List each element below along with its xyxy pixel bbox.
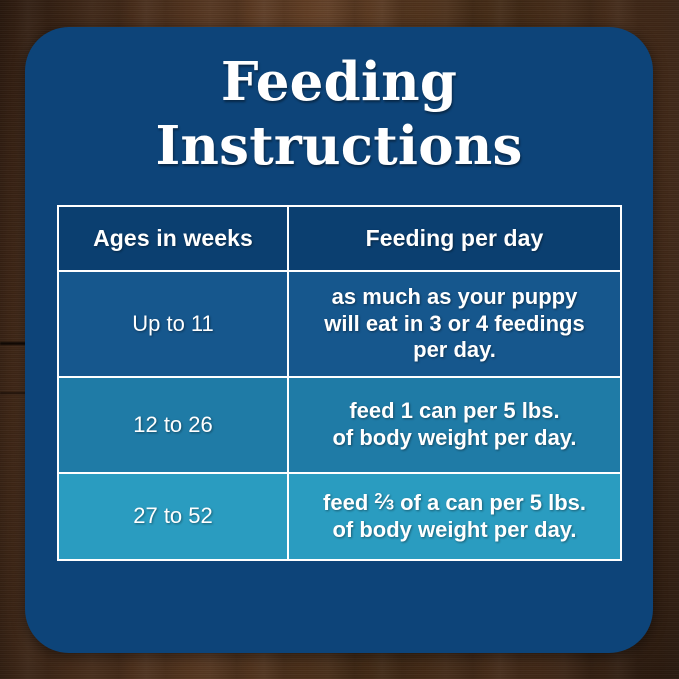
cell-feeding-row-2-line-2: of body weight per day. bbox=[332, 425, 576, 450]
cell-ages-row-1: Up to 11 bbox=[59, 270, 289, 376]
page-title-line-2: Instructions bbox=[25, 115, 653, 179]
column-header-ages: Ages in weeks bbox=[59, 207, 289, 270]
feeding-instructions-card: Feeding Instructions Ages in weeks Feedi… bbox=[25, 27, 653, 653]
table-row: Up to 11 as much as your puppy will eat … bbox=[59, 270, 620, 376]
table-row: 12 to 26 feed 1 can per 5 lbs. of body w… bbox=[59, 376, 620, 472]
cell-ages-row-2: 12 to 26 bbox=[59, 376, 289, 472]
cell-feeding-row-1: as much as your puppy will eat in 3 or 4… bbox=[289, 270, 620, 376]
cell-feeding-row-3-suffix: of a can per 5 lbs. bbox=[394, 490, 586, 515]
feeding-table-body: Up to 11 as much as your puppy will eat … bbox=[59, 270, 620, 559]
table-header-row: Ages in weeks Feeding per day bbox=[59, 207, 620, 270]
cell-feeding-row-3: feed 2⁄3 of a can per 5 lbs. of body wei… bbox=[289, 472, 620, 559]
cell-feeding-row-3-prefix: feed bbox=[323, 490, 374, 515]
screenshot-stage: Feeding Instructions Ages in weeks Feedi… bbox=[0, 0, 679, 679]
cell-ages-row-3: 27 to 52 bbox=[59, 472, 289, 559]
page-title: Feeding Instructions bbox=[25, 51, 653, 178]
feeding-table-head: Ages in weeks Feeding per day bbox=[59, 207, 620, 270]
column-header-feeding: Feeding per day bbox=[289, 207, 620, 270]
fraction-two-thirds: 2⁄3 bbox=[374, 489, 394, 516]
cell-feeding-row-1-line-3: per day. bbox=[413, 337, 496, 362]
page-title-line-1: Feeding bbox=[25, 51, 653, 115]
cell-feeding-row-2-line-1: feed 1 can per 5 lbs. bbox=[349, 398, 559, 423]
table-row: 27 to 52 feed 2⁄3 of a can per 5 lbs. of… bbox=[59, 472, 620, 559]
cell-feeding-row-1-line-1: as much as your puppy bbox=[332, 284, 578, 309]
cell-feeding-row-3-line-2: of body weight per day. bbox=[332, 517, 576, 542]
fraction-denominator: 3 bbox=[386, 498, 394, 514]
cell-feeding-row-1-line-2: will eat in 3 or 4 feedings bbox=[324, 311, 584, 336]
feeding-table: Ages in weeks Feeding per day Up to 11 a… bbox=[57, 205, 622, 561]
cell-feeding-row-2: feed 1 can per 5 lbs. of body weight per… bbox=[289, 376, 620, 472]
